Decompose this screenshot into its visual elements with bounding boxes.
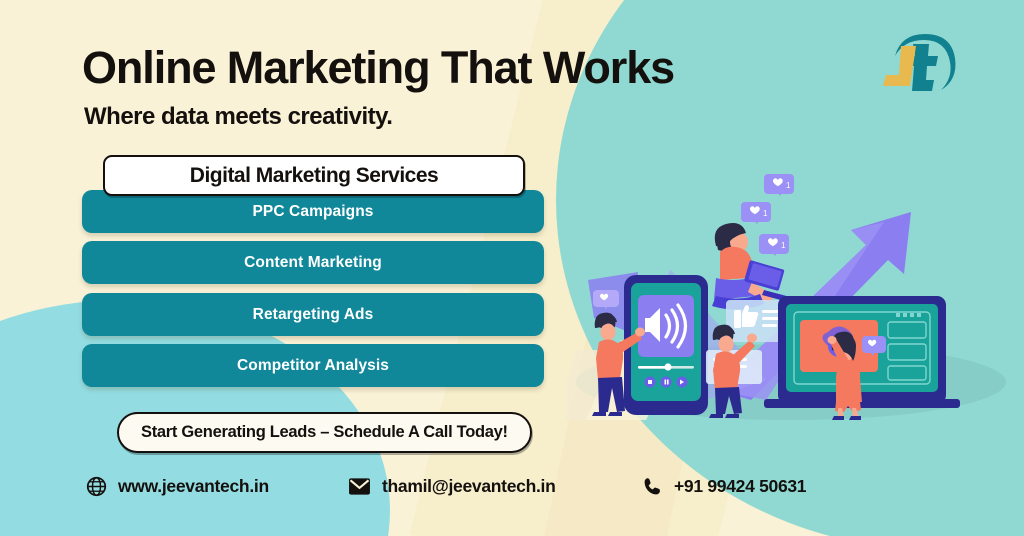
services-title-label: Digital Marketing Services — [190, 164, 438, 188]
cta-button-label: Start Generating Leads – Schedule A Call… — [141, 423, 508, 442]
like-bubble: 1 — [759, 234, 789, 256]
marketing-banner: 1 1 1 — [0, 0, 1024, 536]
phone-icon — [642, 476, 663, 497]
service-item-content-marketing[interactable]: Content Marketing — [82, 241, 544, 284]
globe-icon — [86, 476, 107, 497]
contact-phone[interactable]: +91 99424 50631 — [642, 476, 806, 497]
like-bubble — [593, 290, 619, 309]
page-subtitle: Where data meets creativity. — [84, 103, 392, 131]
contact-phone-text: +91 99424 50631 — [674, 476, 806, 497]
svg-text:1: 1 — [763, 209, 768, 218]
contact-email[interactable]: thamil@jeevantech.in — [348, 476, 555, 497]
service-item-label: Retargeting Ads — [253, 306, 374, 324]
service-item-label: PPC Campaigns — [252, 203, 373, 221]
svg-text:1: 1 — [781, 241, 786, 250]
service-item-retargeting-ads[interactable]: Retargeting Ads — [82, 293, 544, 336]
contact-email-text: thamil@jeevantech.in — [382, 476, 555, 497]
services-title: Digital Marketing Services — [103, 155, 525, 196]
service-item-label: Content Marketing — [244, 254, 382, 272]
cta-button[interactable]: Start Generating Leads – Schedule A Call… — [117, 412, 532, 453]
envelope-icon — [348, 477, 371, 496]
like-bubble: 1 — [741, 202, 771, 224]
laptop-device — [764, 296, 960, 408]
jeevantech-logo[interactable] — [865, 30, 969, 102]
service-item-label: Competitor Analysis — [237, 357, 389, 375]
contact-website-text: www.jeevantech.in — [118, 476, 269, 497]
contact-website[interactable]: www.jeevantech.in — [86, 476, 269, 497]
service-item-competitor-analysis[interactable]: Competitor Analysis — [82, 344, 544, 387]
like-bubble: 1 — [764, 174, 794, 196]
page-title: Online Marketing That Works — [82, 42, 674, 94]
svg-text:1: 1 — [786, 181, 791, 190]
digital-marketing-illustration: 1 1 1 — [566, 150, 1016, 420]
tablet-device — [624, 275, 708, 415]
service-item-ppc-campaigns[interactable]: PPC Campaigns — [82, 190, 544, 233]
